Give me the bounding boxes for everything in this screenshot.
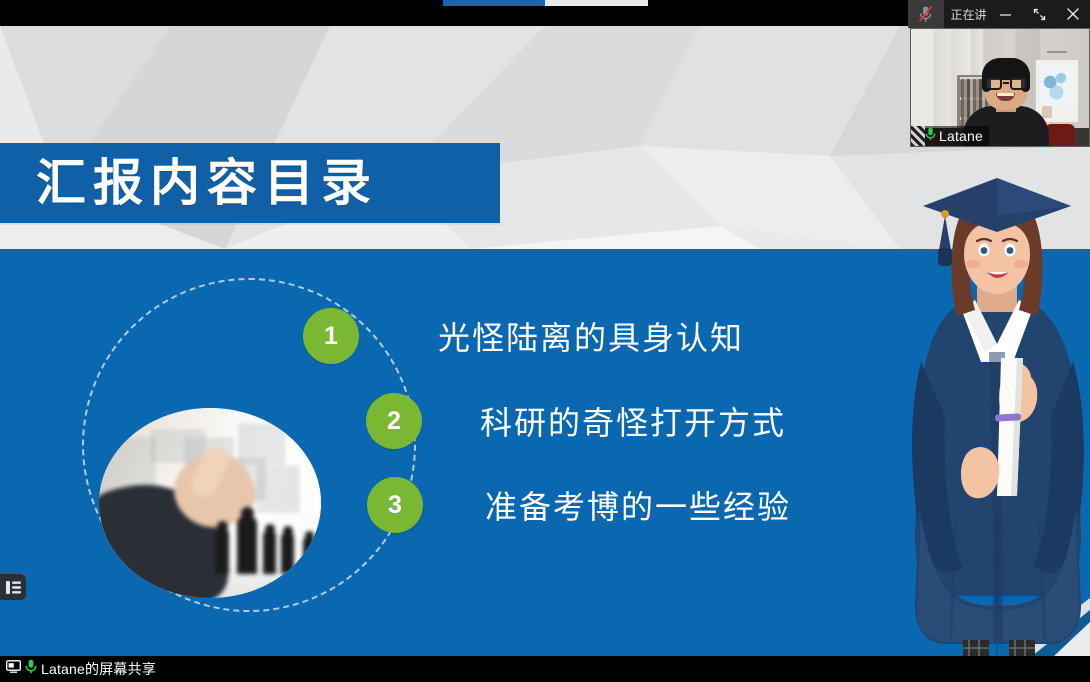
agenda-item-text: 科研的奇怪打开方式 [480, 398, 786, 444]
video-corner-hatch [911, 126, 925, 146]
chair [1045, 124, 1075, 146]
toolbar-peek-white-segment [545, 0, 648, 6]
self-view-video-thumbnail[interactable]: Latane [910, 28, 1090, 147]
agenda-item-2[interactable]: 2 科研的奇怪打开方式 [366, 393, 786, 449]
screen-share-status-bar: Latane的屏幕共享 [0, 656, 1090, 682]
mic-active-icon [25, 659, 37, 679]
meeting-toolbar-peek[interactable] [443, 0, 648, 6]
participant-name: Latane [939, 128, 983, 144]
mic-active-icon [925, 127, 936, 146]
status-icons [6, 659, 37, 679]
zoom-meeting-screenshare-window: 汇报内容目录 [0, 0, 1090, 682]
agenda-number-badge: 3 [367, 477, 423, 533]
page-title: 汇报内容目录 [36, 158, 378, 208]
restore-icon[interactable] [1022, 0, 1056, 28]
mic-muted-icon[interactable] [908, 0, 944, 28]
toolbar-peek-blue-segment [443, 0, 545, 6]
slide-title-bar: 汇报内容目录 [0, 143, 500, 223]
minimize-icon[interactable] [988, 0, 1022, 28]
slide-list-icon[interactable] [0, 574, 26, 600]
meeting-control-cluster: 正在讲 [908, 0, 1090, 28]
hand-touching-screen-photo [99, 408, 321, 598]
window-controls [988, 0, 1090, 28]
agenda-item-text: 光怪陆离的具身认知 [438, 313, 744, 359]
active-speaker-label: 正在讲 [951, 6, 988, 23]
wall-object [1047, 51, 1067, 53]
screen-share-status-text: Latane的屏幕共享 [41, 659, 156, 679]
agenda-number-badge: 2 [366, 393, 422, 449]
agenda-number-badge: 1 [303, 308, 359, 364]
screen-share-icon [6, 660, 21, 678]
agenda-item-1[interactable]: 1 光怪陆离的具身认知 [303, 308, 744, 364]
agenda-item-3[interactable]: 3 准备考博的一些经验 [367, 477, 791, 533]
graduate-student-illustration [905, 176, 1090, 656]
agenda-item-text: 准备考博的一些经验 [485, 482, 791, 528]
participant-name-bar: Latane [911, 126, 989, 146]
close-icon[interactable] [1056, 0, 1090, 28]
